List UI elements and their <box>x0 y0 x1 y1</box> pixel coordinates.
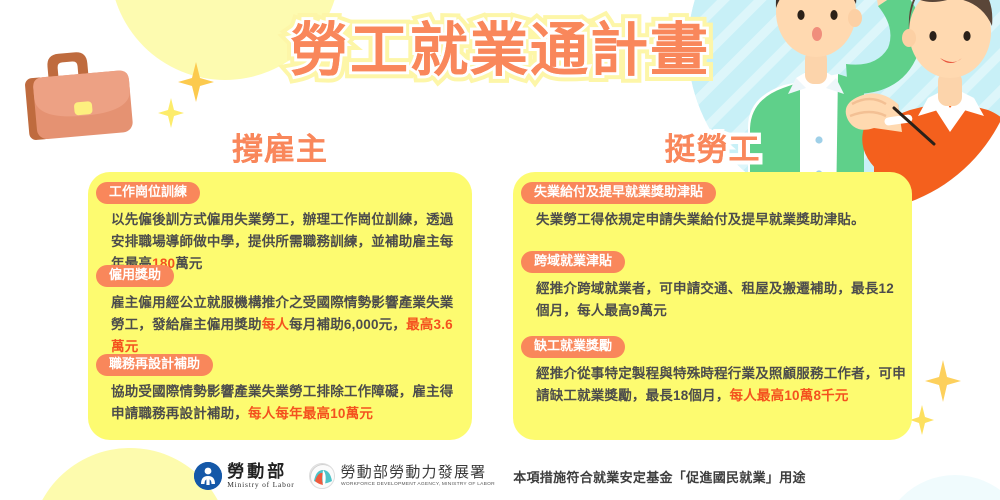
card-job-training: 工作崗位訓練 以先僱後訓方式僱用失業勞工，辦理工作崗位訓練，透過安排職場導師做中… <box>96 182 466 275</box>
card-pill-label: 工作崗位訓練 <box>96 182 200 204</box>
card-unemployment-benefit: 失業給付及提早就業獎助津貼 失業勞工得依規定申請失業給付及提早就業獎助津貼。 <box>521 182 906 231</box>
text-segment: 每月補助6,000元， <box>289 317 406 332</box>
card-pill-label: 失業給付及提早就業獎助津貼 <box>521 182 716 204</box>
card-employment-subsidy: 僱用獎助 雇主僱用經公立就服機構推介之受國際情勢影響產業失業勞工，發給雇主僱用獎… <box>96 265 466 358</box>
panel-heading-worker: 挺勞工 <box>513 134 912 165</box>
card-body-text: 協助受國際情勢影響產業失業勞工排除工作障礙，雇主得申請職務再設計補助，每人每年最… <box>96 381 466 425</box>
text-segment: 失業勞工得依規定申請失業給付及提早就業獎助津貼。 <box>536 212 865 227</box>
text-segment: 經推介跨域就業者，可申請交通、租屋及搬遷補助，最長12個月，每人最高9萬元 <box>536 281 894 318</box>
sparkle-star-icon <box>910 405 934 435</box>
card-body-text: 雇主僱用經公立就服機構推介之受國際情勢影響產業失業勞工，發給雇主僱用獎助每人每月… <box>96 292 466 358</box>
page-title: 勞工就業通計畫 <box>0 22 1000 80</box>
text-segment-highlight: 每人 <box>262 317 289 332</box>
card-job-redesign-subsidy: 職務再設計補助 協助受國際情勢影響產業失業勞工排除工作障礙，雇主得申請職務再設計… <box>96 354 466 425</box>
card-pill-label: 職務再設計補助 <box>96 354 213 376</box>
agency-name-cn: 勞動部勞動力發展署 <box>341 465 500 482</box>
ministry-name-cn: 勞動部 <box>227 463 294 481</box>
card-body-text: 失業勞工得依規定申請失業給付及提早就業獎助津貼。 <box>521 209 906 231</box>
infographic-canvas: 勞工就業通計畫 勞工就業通計畫 勞工就業通計畫 撐雇主 撐雇主 工作崗位訓練 以… <box>0 0 1000 500</box>
card-pill-label: 缺工就業獎勵 <box>521 336 625 358</box>
sparkle-star-icon <box>925 360 961 402</box>
workforce-development-agency-logo: 勞動部勞動力發展署 WORKFORCE DEVELOPMENT AGENCY, … <box>309 463 500 489</box>
card-body-text: 經推介從事特定製程與特殊時程行業及照顧服務工作者，可申請缺工就業獎勵，最長18個… <box>521 363 906 407</box>
agency-name-en: WORKFORCE DEVELOPMENT AGENCY, MINISTRY O… <box>341 482 495 487</box>
text-segment-highlight: 每人最高10萬8千元 <box>730 388 849 403</box>
panel-heading-employer: 撐雇主 <box>88 134 472 165</box>
ministry-name-en: Ministry of Labor <box>227 481 294 489</box>
card-body-text: 經推介跨域就業者，可申請交通、租屋及搬遷補助，最長12個月，每人最高9萬元 <box>521 278 906 322</box>
text-segment: 經推介從事特定製程與特殊時程行業及照顧服務工作者，可申請缺工就業獎勵，最長18個… <box>536 366 906 403</box>
card-pill-label: 跨域就業津貼 <box>521 251 625 273</box>
wda-mark-icon <box>309 463 335 489</box>
card-labor-shortage-incentive: 缺工就業獎勵 經推介從事特定製程與特殊時程行業及照顧服務工作者，可申請缺工就業獎… <box>521 336 906 407</box>
sparkle-star-icon <box>158 98 184 128</box>
card-cross-region-allowance: 跨域就業津貼 經推介跨域就業者，可申請交通、租屋及搬遷補助，最長12個月，每人最… <box>521 251 906 322</box>
text-segment-highlight: 每人每年最高10萬元 <box>248 406 373 421</box>
footer: 勞動部 Ministry of Labor 勞動部勞動力發展署 WORKFORC… <box>0 456 1000 496</box>
ministry-of-labor-logo: 勞動部 Ministry of Labor <box>194 462 294 490</box>
ministry-of-labor-text: 勞動部 Ministry of Labor <box>227 463 294 489</box>
footer-note: 本項措施符合就業安定基金「促進國民就業」用途 <box>513 467 806 486</box>
card-pill-label: 僱用獎助 <box>96 265 174 287</box>
wda-text: 勞動部勞動力發展署 WORKFORCE DEVELOPMENT AGENCY, … <box>341 465 500 487</box>
ministry-of-labor-mark-icon <box>194 462 222 490</box>
